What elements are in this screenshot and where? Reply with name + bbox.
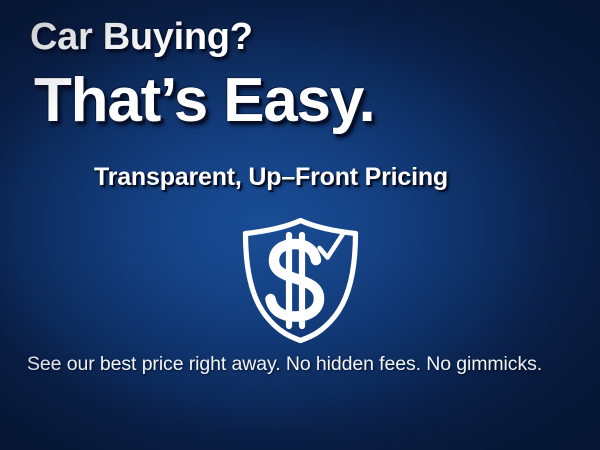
shield-dollar-check-graphic: [238, 215, 363, 345]
checkmark-icon: [320, 235, 343, 258]
shield-icon: [238, 215, 363, 345]
car-buying-ad-banner: Car Buying? That’s Easy. Transparent, Up…: [0, 0, 600, 450]
dollar-sign-icon: [271, 235, 320, 326]
subheadline-pricing: Transparent, Up–Front Pricing: [94, 163, 448, 192]
headline-top: Car Buying?: [30, 17, 253, 58]
headline-main: That’s Easy.: [34, 68, 375, 135]
tagline: See our best price right away. No hidden…: [27, 353, 542, 376]
